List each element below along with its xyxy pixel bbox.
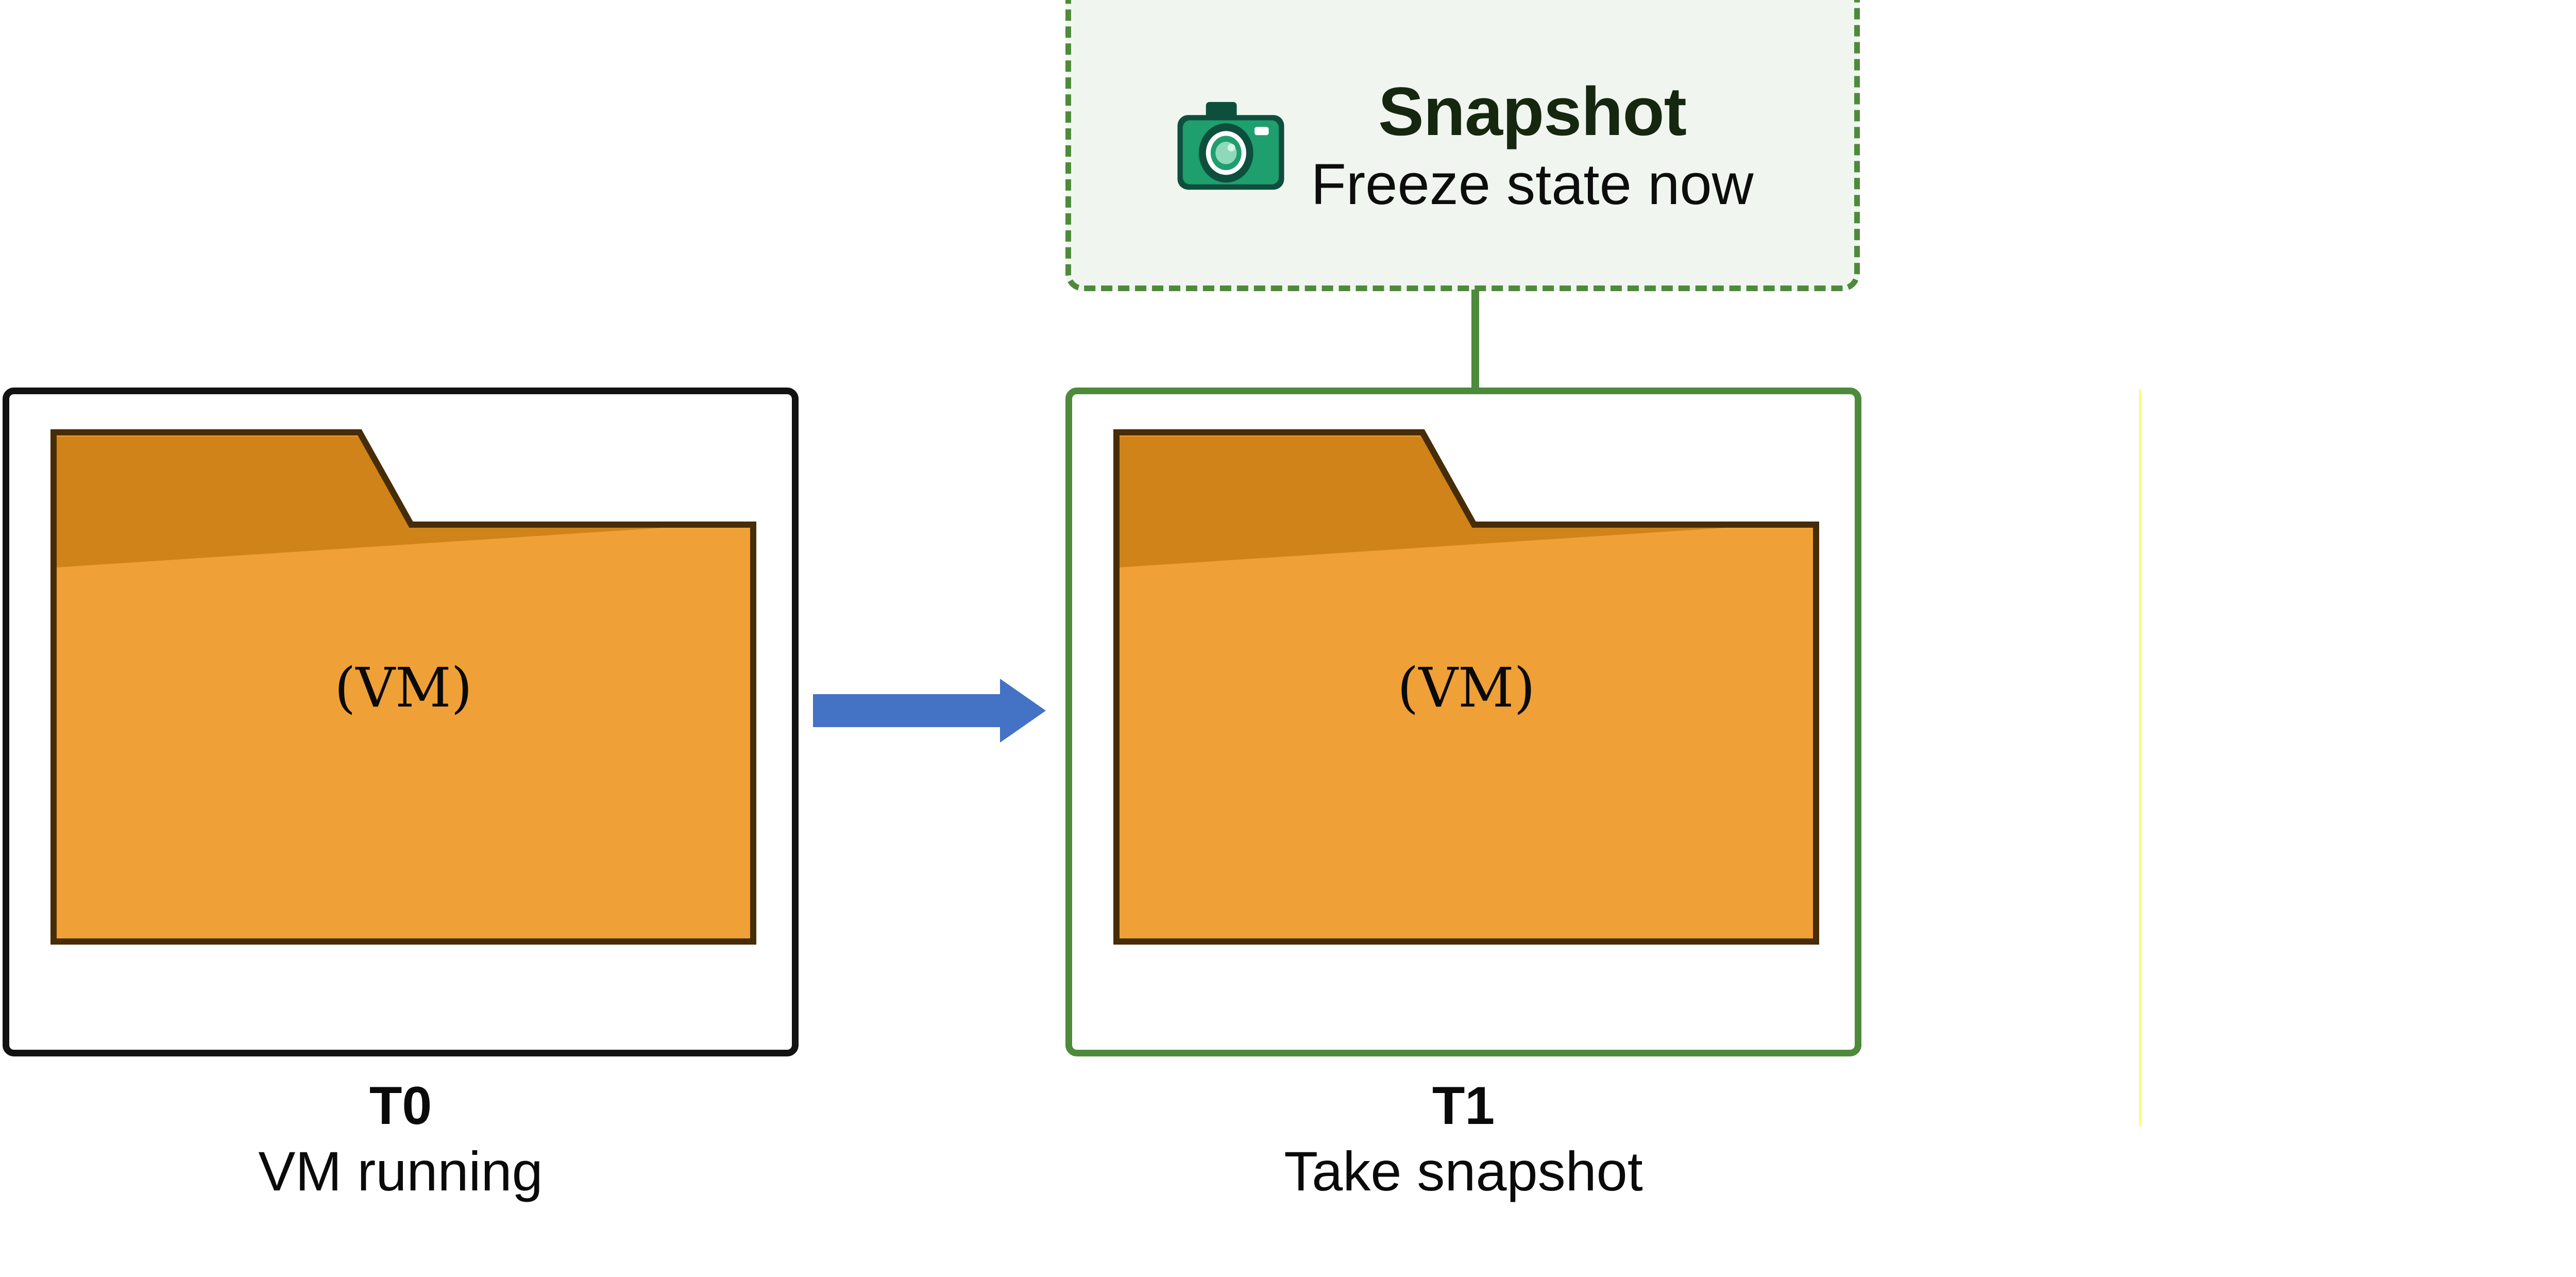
vm-folder-t1: (VM)	[1113, 429, 1819, 945]
stage-time-label-t1: T1	[1065, 1078, 1861, 1134]
guide-line	[2139, 390, 2141, 1127]
transition-arrow	[813, 669, 1046, 752]
snapshot-text-block: Snapshot Freeze state now	[1311, 78, 1753, 213]
vm-folder-t0: (VM)	[50, 429, 756, 945]
stage-caption-t1: T1 Take snapshot	[1065, 1078, 1861, 1203]
vm-stage-t1: (VM)	[1065, 388, 1861, 1056]
stage-description-t1: Take snapshot	[1065, 1139, 1861, 1203]
stage-time-label-t0: T0	[3, 1078, 799, 1134]
snapshot-connector-line	[1471, 290, 1479, 391]
snapshot-subtitle: Freeze state now	[1311, 156, 1753, 213]
diagram-canvas: Snapshot Freeze state now (VM)	[0, 0, 2576, 1277]
snapshot-callout: Snapshot Freeze state now	[1065, 0, 1860, 291]
stage-caption-t0: T0 VM running	[3, 1078, 799, 1203]
snapshot-title: Snapshot	[1378, 78, 1686, 146]
stage-description-t0: VM running	[3, 1139, 799, 1203]
camera-icon	[1172, 87, 1290, 205]
vm-stage-t0: (VM)	[3, 388, 799, 1056]
